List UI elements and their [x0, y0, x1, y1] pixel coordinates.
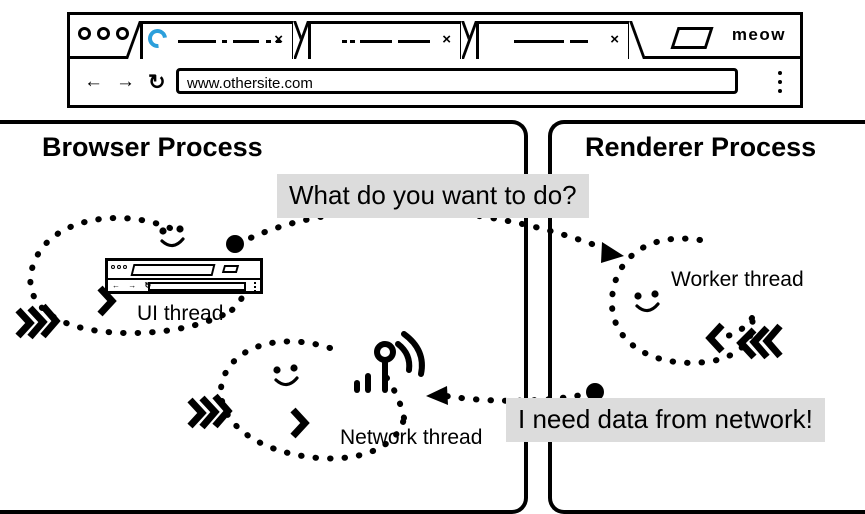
network-thread-label: Network thread [340, 427, 482, 448]
speech-bubble-ui-to-renderer: What do you want to do? [277, 174, 589, 218]
forward-icon[interactable]: → [116, 72, 135, 91]
address-bar-value: www.othersite.com [187, 74, 313, 93]
tab-close-icon[interactable]: × [274, 32, 283, 47]
mini-dot-3 [123, 265, 127, 269]
mini-window-controls [111, 265, 127, 269]
worker-thread-label: Worker thread [671, 269, 804, 290]
mini-kebab-dot-1 [254, 282, 256, 284]
renderer-process-title: Renderer Process [585, 134, 816, 161]
window-dot-2[interactable] [97, 27, 110, 40]
kebab-menu-icon[interactable] [778, 71, 782, 98]
diagram-canvas: × × [0, 0, 865, 504]
mini-browser-icon: ← → ↻ [105, 258, 263, 294]
mini-kebab-dot-3 [254, 290, 256, 292]
mini-dot-2 [117, 265, 121, 269]
back-icon[interactable]: ← [84, 72, 103, 91]
mini-kebab-icon [254, 282, 256, 294]
mini-browser-tabstrip [108, 261, 260, 280]
tab-close-icon[interactable]: × [610, 32, 619, 47]
mini-dot-1 [111, 265, 115, 269]
window-dot-1[interactable] [78, 27, 91, 40]
kebab-dot-1 [778, 71, 782, 75]
speech-bubble-renderer-to-network: I need data from network! [506, 398, 825, 442]
browser-process-title: Browser Process [42, 134, 263, 161]
tab-close-icon[interactable]: × [442, 32, 451, 47]
ui-thread-label: UI thread [137, 303, 223, 324]
kebab-dot-3 [778, 89, 782, 93]
tab-2[interactable]: × [298, 21, 473, 59]
brand-label: meow [732, 26, 786, 43]
kebab-dot-2 [778, 80, 782, 84]
reload-icon[interactable]: ↻ [148, 72, 166, 93]
mini-address-bar [148, 282, 246, 291]
mini-tab [131, 264, 216, 276]
tab-active[interactable]: × [130, 21, 305, 59]
tab-3[interactable]: × [466, 21, 641, 59]
tab-strip: × × [70, 15, 800, 59]
renderer-process-box [548, 120, 865, 514]
new-tab-button[interactable] [670, 27, 713, 49]
address-bar[interactable]: www.othersite.com [176, 68, 738, 94]
browser-window: × × [67, 12, 803, 108]
mini-new-tab [222, 265, 239, 273]
browser-toolbar: ← → ↻ www.othersite.com [70, 59, 800, 108]
mini-kebab-dot-2 [254, 286, 256, 288]
window-controls[interactable] [78, 27, 129, 40]
